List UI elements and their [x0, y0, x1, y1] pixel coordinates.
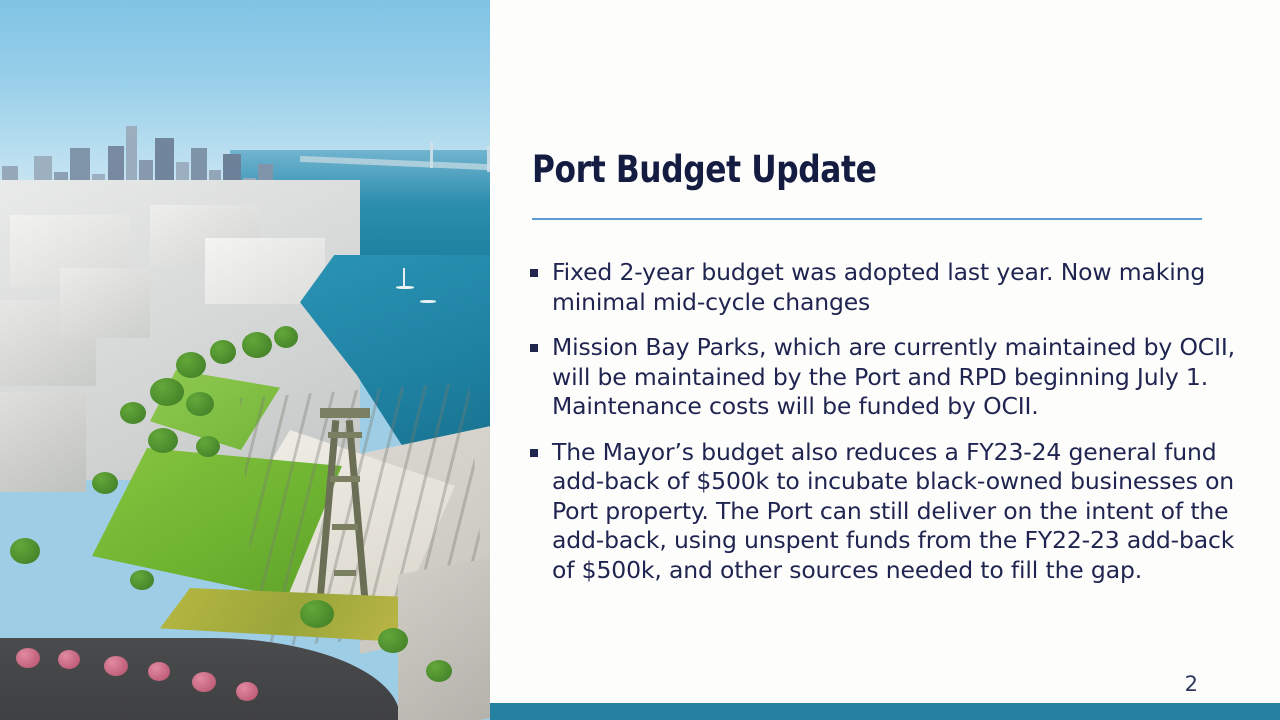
photo-blossom-tree: [104, 656, 128, 676]
photo-tree: [426, 660, 452, 682]
photo-tree: [130, 570, 154, 590]
photo-building: [398, 558, 490, 720]
bullet-square-icon: [530, 449, 538, 457]
list-item: The Mayor’s budget also reduces a FY23-2…: [530, 438, 1246, 586]
photo-tree: [242, 332, 272, 358]
title-divider: [532, 218, 1202, 220]
list-item: Fixed 2-year budget was adopted last yea…: [530, 258, 1246, 317]
list-item-text: Fixed 2-year budget was adopted last yea…: [552, 258, 1246, 317]
photo-bridge-tower: [430, 142, 433, 168]
photo-tree: [378, 628, 408, 653]
photo-tree: [176, 352, 206, 378]
list-item: Mission Bay Parks, which are currently m…: [530, 333, 1246, 422]
photo-tree: [196, 436, 220, 457]
photo-tree: [186, 392, 214, 416]
photo-tree: [148, 428, 178, 453]
photo-blossom-tree: [58, 650, 80, 669]
list-item-text: Mission Bay Parks, which are currently m…: [552, 333, 1246, 422]
photo-tree: [274, 326, 298, 348]
photo-blossom-tree: [236, 682, 258, 701]
bullet-list: Fixed 2-year budget was adopted last yea…: [530, 258, 1246, 601]
photo-gantry-crane: [318, 380, 372, 610]
photo-tree: [92, 472, 118, 494]
photo-sailboat: [396, 286, 414, 289]
bullet-square-icon: [530, 344, 538, 352]
photo-tree: [300, 600, 334, 628]
photo-blossom-tree: [16, 648, 40, 668]
photo-sailboat: [403, 268, 405, 288]
bullet-square-icon: [530, 269, 538, 277]
photo-sailboat: [420, 300, 436, 303]
photo-building: [60, 268, 150, 338]
photo-blossom-tree: [148, 662, 170, 681]
slide: Port Budget Update Fixed 2-year budget w…: [0, 0, 1280, 720]
photo-blossom-tree: [192, 672, 216, 692]
footer-accent-bar: [490, 703, 1280, 720]
photo-tree: [210, 340, 236, 364]
photo-tree: [120, 402, 146, 424]
photo-tree: [10, 538, 40, 564]
photo-building: [0, 392, 86, 492]
list-item-text: The Mayor’s budget also reduces a FY23-2…: [552, 438, 1246, 586]
aerial-photo: [0, 0, 490, 720]
photo-tree: [150, 378, 184, 406]
slide-content: Port Budget Update Fixed 2-year budget w…: [490, 0, 1280, 720]
page-title: Port Budget Update: [532, 148, 1190, 191]
page-number: 2: [1185, 672, 1198, 696]
